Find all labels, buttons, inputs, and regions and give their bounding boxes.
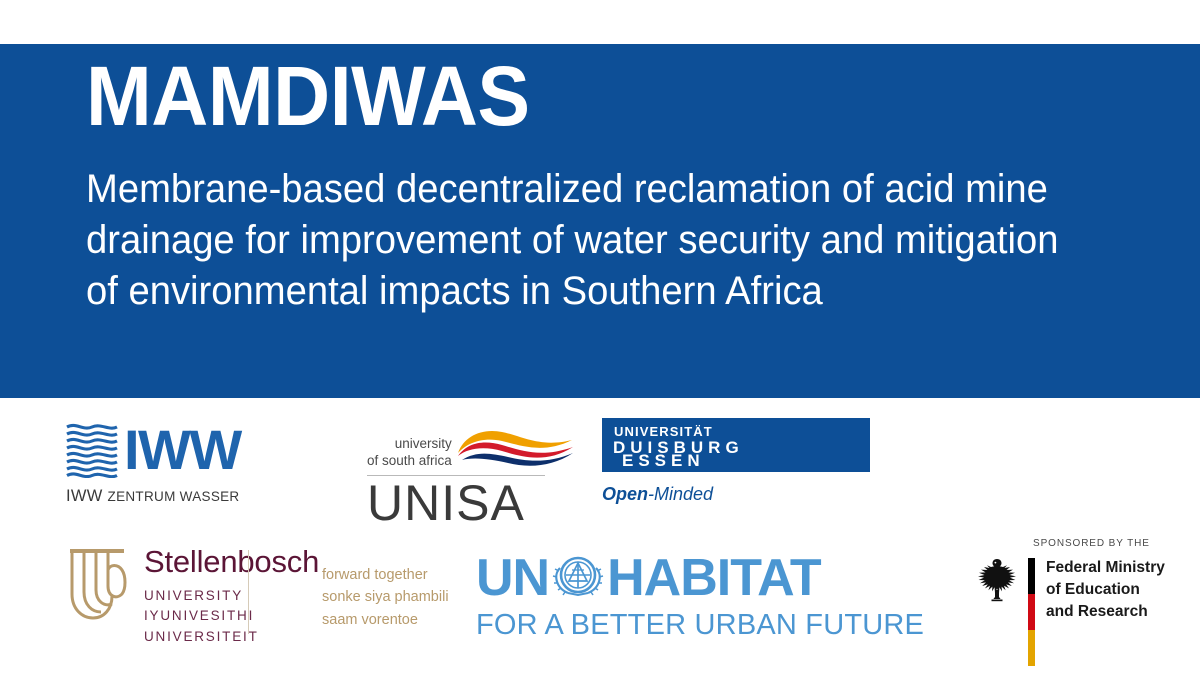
un-habitat-emblem-icon (550, 548, 606, 609)
iww-waves-icon (66, 422, 118, 478)
bmbf-name-line-3: and Research (1046, 601, 1165, 623)
unisa-swoosh-icon (456, 426, 574, 471)
un-habitat-part-un: UN (476, 554, 549, 603)
unisa-line-1: university (367, 436, 452, 453)
logo-bmbf: SPONSORED BY THE Federal Ministry of Edu… (975, 538, 1165, 666)
unisa-line-2: of south africa (367, 453, 452, 470)
stellenbosch-lines: UNIVERSITY IYUNIVESITHI UNIVERSITEIT (144, 586, 319, 647)
logo-unisa: university of south africa UNISA (367, 426, 574, 528)
stellenbosch-line-1: UNIVERSITY (144, 586, 319, 606)
un-habitat-part-habitat: HABITAT (607, 554, 820, 603)
iww-acronym: IWW (124, 423, 241, 476)
unisa-wordmark-lines: university of south africa (367, 436, 452, 471)
unisa-name: UNISA (367, 478, 574, 528)
ude-blue-box: UNIVERSITÄT DUISBURG ESSEN (602, 418, 870, 472)
stellenbosch-tagline-xh: sonke siya phambili (322, 586, 449, 608)
stellenbosch-divider-left (248, 550, 249, 634)
un-habitat-tagline: FOR A BETTER URBAN FUTURE (476, 611, 924, 640)
iww-subtitle-rest: ZENTRUM WASSER (108, 489, 240, 504)
ude-line-universitaet: UNIVERSITÄT (614, 424, 713, 439)
project-subtitle: Membrane-based decentralized reclamation… (86, 164, 1070, 318)
stellenbosch-tagline: forward together sonke siya phambili saa… (322, 564, 449, 631)
hero-banner: MAMDIWAS Membrane-based decentralized re… (0, 44, 1200, 398)
ude-tagline-bold: Open (602, 484, 648, 504)
bmbf-sponsored-label: SPONSORED BY THE (1033, 538, 1165, 549)
ude-tagline-rest: -Minded (648, 484, 713, 504)
stellenbosch-line-3: UNIVERSITEIT (144, 627, 319, 647)
german-flag-bar (1028, 558, 1035, 666)
german-federal-eagle-icon (975, 557, 1019, 603)
bmbf-name-line-1: Federal Ministry (1046, 557, 1165, 579)
logo-iww: IWW IWW ZENTRUM WASSER (66, 422, 241, 506)
project-acronym-title: MAMDIWAS (86, 52, 530, 140)
bmbf-name-line-2: of Education (1046, 579, 1165, 601)
stellenbosch-tagline-af: saam vorentoe (322, 609, 449, 631)
logo-duisburg-essen: UNIVERSITÄT DUISBURG ESSEN Open-Minded (602, 418, 870, 505)
bmbf-ministry-name: Federal Ministry of Education and Resear… (1046, 557, 1165, 623)
logo-un-habitat: UN (476, 548, 924, 640)
ude-line-essen: ESSEN (622, 451, 705, 471)
partner-logo-strip: IWW IWW ZENTRUM WASSER university of sou… (0, 398, 1200, 674)
stellenbosch-shield-icon (62, 546, 132, 622)
stellenbosch-line-2: IYUNIVESITHI (144, 606, 319, 626)
iww-subtitle: IWW ZENTRUM WASSER (66, 487, 241, 506)
stellenbosch-name: Stellenbosch (144, 546, 319, 577)
stellenbosch-tagline-en: forward together (322, 564, 449, 586)
logo-stellenbosch: Stellenbosch UNIVERSITY IYUNIVESITHI UNI… (62, 546, 319, 647)
iww-subtitle-lead: IWW (66, 487, 103, 505)
ude-tagline: Open-Minded (602, 484, 870, 505)
